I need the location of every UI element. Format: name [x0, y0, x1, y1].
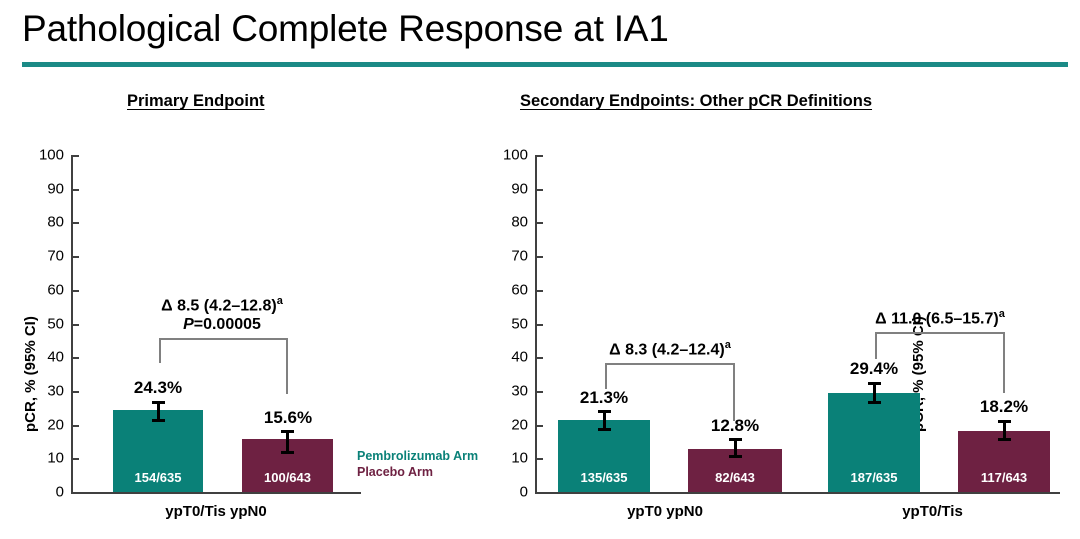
- x-axis-line-left: [71, 492, 361, 494]
- y-tick-label: 10: [47, 450, 64, 467]
- y-tick-label: 0: [520, 484, 528, 501]
- footnote-marker: a: [277, 295, 283, 307]
- bar-count-label: 187/635: [828, 470, 920, 485]
- y-tick-label: 70: [47, 248, 64, 265]
- y-tick-label: 80: [47, 214, 64, 231]
- bar-count-label: 100/643: [242, 470, 333, 485]
- delta-annotation-left: Δ 8.5 (4.2–12.8)a P=0.00005: [77, 295, 367, 334]
- error-bar-pembrolizumab-ypT0-Tis: [873, 382, 876, 404]
- y-tick-label: 30: [511, 382, 528, 399]
- y-tick-label: 90: [47, 180, 64, 197]
- delta-annotation-ypT0-ypN0: Δ 8.3 (4.2–12.4)a: [535, 339, 805, 360]
- title-divider: [22, 62, 1068, 67]
- y-tick-label: 90: [511, 180, 528, 197]
- bar-value-pembrolizumab-ypT0-ypN0: 21.3%: [539, 388, 669, 408]
- p-value: =0.00005: [194, 316, 261, 333]
- y-tick-label: 20: [511, 416, 528, 433]
- error-bar-pembrolizumab: [157, 401, 160, 422]
- bar-pembrolizumab-ypT0-Tis[interactable]: 187/635: [828, 393, 920, 492]
- error-bar-placebo-ypT0-Tis: [1003, 420, 1006, 441]
- p-label: P: [183, 316, 194, 333]
- y-tick-label: 80: [511, 214, 528, 231]
- y-axis-title-left: pCR, % (95% CI): [22, 316, 39, 432]
- secondary-endpoints-chart: pCR, % (95% CI) 0 10 20 30 40 50 60 70 8…: [440, 140, 1080, 539]
- x-category-label-ypT0-ypN0: ypT0 ypN0: [535, 503, 795, 520]
- error-bar-placebo-ypT0-ypN0: [734, 438, 737, 458]
- footnote-marker: a: [725, 339, 731, 351]
- bar-count-label: 135/635: [558, 470, 650, 485]
- bar-count-label: 117/643: [958, 470, 1050, 485]
- y-tick-label: 100: [39, 147, 64, 164]
- secondary-endpoints-heading: Secondary Endpoints: Other pCR Definitio…: [520, 92, 872, 111]
- y-tick-label: 60: [47, 281, 64, 298]
- bar-value-placebo: 15.6%: [223, 408, 353, 428]
- plot-area-left: 0 10 20 30 40 50 60 70 80 90 100 154/635…: [71, 155, 361, 492]
- y-tick-label: 40: [47, 349, 64, 366]
- y-tick-label: 0: [56, 484, 64, 501]
- bar-value-pembrolizumab: 24.3%: [93, 378, 223, 398]
- y-tick-label: 70: [511, 248, 528, 265]
- x-category-label-ypT0-Tis: ypT0/Tis: [805, 503, 1060, 520]
- bar-value-placebo-ypT0-Tis: 18.2%: [939, 397, 1069, 417]
- y-tick-label: 10: [511, 450, 528, 467]
- x-category-label-left: ypT0/Tis ypN0: [71, 503, 361, 520]
- delta-value-ypT0-ypN0: Δ 8.3 (4.2–12.4): [609, 341, 725, 358]
- x-axis-line-right: [535, 492, 1060, 494]
- y-tick-label: 60: [511, 281, 528, 298]
- bar-count-label: 82/643: [688, 470, 782, 485]
- footnote-marker: a: [999, 308, 1005, 320]
- plot-area-right: 0 10 20 30 40 50 60 70 80 90 100 135/635…: [535, 155, 1060, 492]
- y-tick-label: 30: [47, 382, 64, 399]
- bar-count-label: 154/635: [113, 470, 203, 485]
- delta-value-left: Δ 8.5 (4.2–12.8): [161, 297, 277, 314]
- delta-value-ypT0-Tis: Δ 11.0 (6.5–15.7): [875, 310, 999, 327]
- error-bar-pembrolizumab-ypT0-ypN0: [603, 410, 606, 431]
- error-bar-placebo: [286, 430, 289, 454]
- page-title: Pathological Complete Response at IA1: [22, 8, 669, 50]
- y-tick-label: 100: [503, 147, 528, 164]
- delta-annotation-ypT0-Tis: Δ 11.0 (6.5–15.7)a: [805, 308, 1075, 329]
- bar-value-placebo-ypT0-ypN0: 12.8%: [670, 416, 800, 436]
- bar-value-pembrolizumab-ypT0-Tis: 29.4%: [809, 359, 939, 379]
- bar-pembrolizumab-ypT0Tis-ypN0[interactable]: 154/635: [113, 410, 203, 492]
- primary-endpoint-heading: Primary Endpoint: [127, 92, 265, 111]
- y-tick-label: 50: [511, 315, 528, 332]
- y-tick-label: 20: [47, 416, 64, 433]
- y-tick-label: 50: [47, 315, 64, 332]
- y-tick-label: 40: [511, 349, 528, 366]
